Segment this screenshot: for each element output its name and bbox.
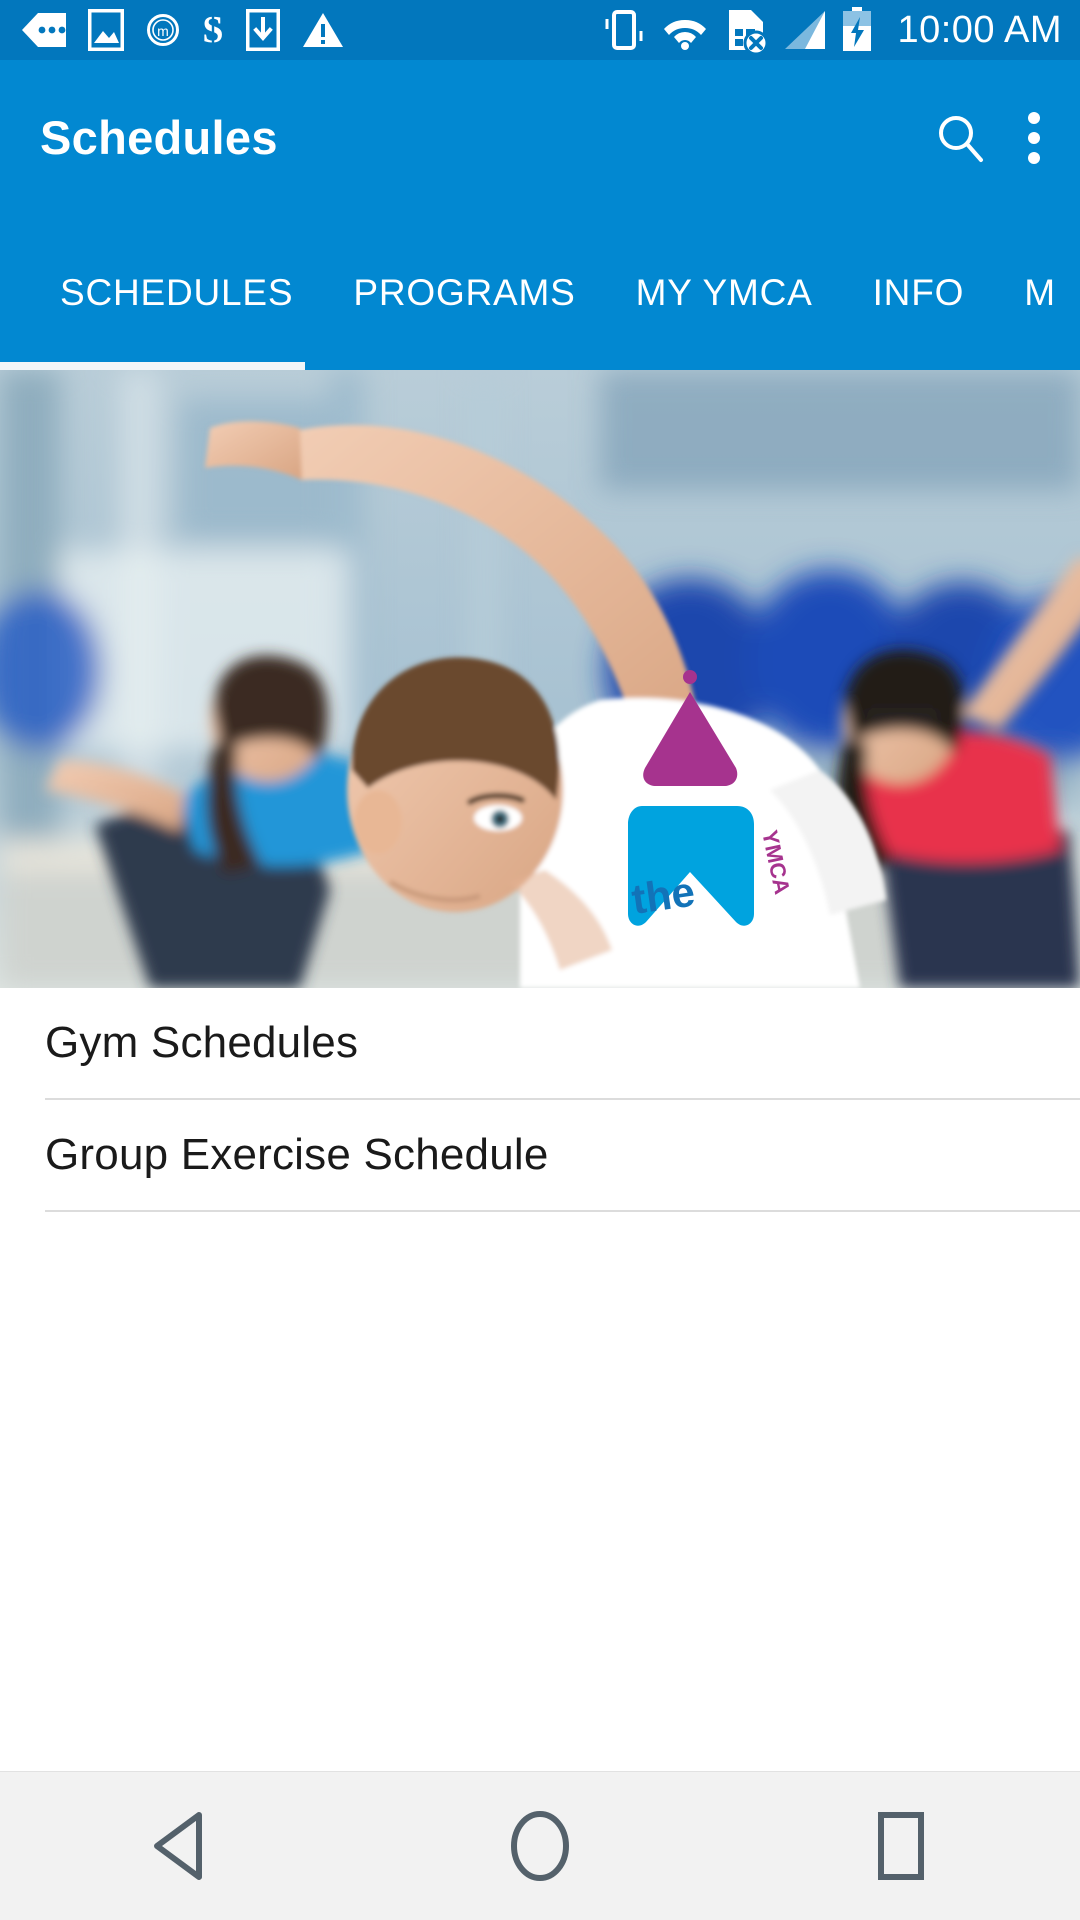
back-triangle-icon: [147, 1810, 213, 1882]
svg-text:the: the: [629, 868, 698, 923]
app-root: m S: [0, 0, 1080, 1920]
wifi-icon: [661, 10, 709, 50]
status-bar: m S: [0, 0, 1080, 60]
battery-charging-icon: [841, 7, 873, 53]
svg-text:m: m: [157, 23, 169, 39]
tab-programs[interactable]: PROGRAMS: [323, 272, 605, 314]
list-item-label: Group Exercise Schedule: [45, 1130, 549, 1180]
signal-icon: [783, 9, 827, 51]
home-circle-icon: [507, 1808, 573, 1884]
tab-schedules[interactable]: SCHEDULES: [30, 272, 323, 314]
tab-info[interactable]: INFO: [843, 272, 995, 314]
list-item-group-exercise-schedule[interactable]: Group Exercise Schedule: [0, 1100, 1080, 1210]
no-sim-icon: [723, 7, 769, 53]
recents-button[interactable]: [810, 1772, 990, 1920]
hero-illustration: the YMCA: [0, 370, 1080, 988]
active-tab-indicator: [0, 362, 305, 370]
status-system-icons: 10:00 AM: [601, 7, 1062, 53]
status-notification-icons: m S: [22, 9, 601, 51]
tab-bar: SCHEDULES PROGRAMS MY YMCA INFO M: [0, 215, 1080, 370]
more-notifications-icon: [22, 13, 66, 47]
app-bar: Schedules: [0, 60, 1080, 215]
list-item-gym-schedules[interactable]: Gym Schedules: [0, 988, 1080, 1098]
image-icon: [88, 9, 124, 51]
system-navigation-bar: [0, 1771, 1080, 1920]
search-icon[interactable]: [934, 112, 986, 164]
app-bar-actions: [934, 110, 1042, 166]
home-button[interactable]: [450, 1772, 630, 1920]
tab-my-ymca[interactable]: MY YMCA: [606, 272, 843, 314]
schedule-list: Gym Schedules Group Exercise Schedule: [0, 988, 1080, 1771]
hero-image: the YMCA: [0, 370, 1080, 988]
overflow-menu-icon[interactable]: [1026, 110, 1042, 166]
page-title: Schedules: [40, 110, 934, 165]
tab-next-partial[interactable]: M: [994, 272, 1080, 314]
list-divider: [45, 1210, 1080, 1212]
vibrate-icon: [601, 7, 647, 53]
status-clock: 10:00 AM: [897, 9, 1062, 52]
circled-m-icon: m: [146, 13, 180, 47]
download-icon: [246, 9, 280, 51]
warning-icon: [302, 11, 344, 49]
back-button[interactable]: [90, 1772, 270, 1920]
s-symbol-icon: S: [202, 9, 224, 51]
list-item-label: Gym Schedules: [45, 1018, 358, 1068]
recents-square-icon: [869, 1808, 931, 1884]
